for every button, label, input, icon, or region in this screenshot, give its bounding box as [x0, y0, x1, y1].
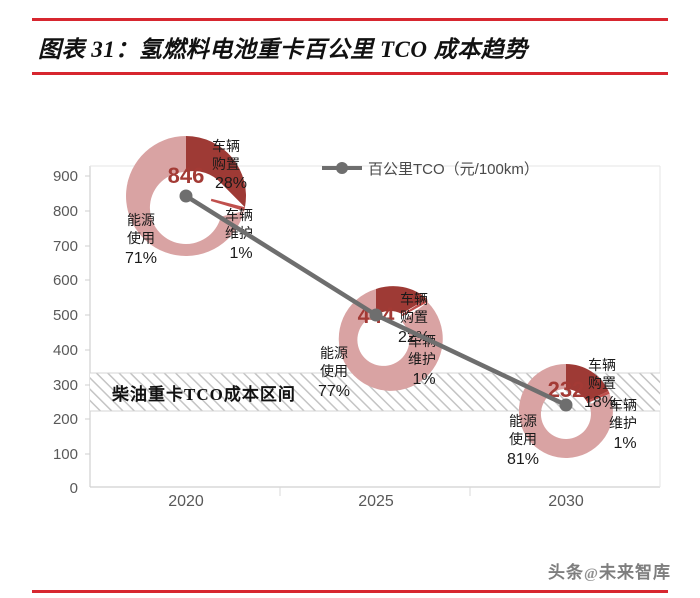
y-label-300: 300 — [53, 377, 78, 394]
donut-2025-energy-l2: 使用 — [320, 363, 348, 380]
title-rule-bottom — [32, 72, 668, 75]
donut-2025-purchase-l2: 购置 — [400, 310, 428, 326]
donut-2030-energy-pct: 81% — [507, 451, 539, 468]
tco-point-2020[interactable] — [180, 190, 193, 203]
watermark-right-text: 未来智库 — [599, 563, 671, 582]
chart-container: 900 800 700 600 500 400 300 200 100 0 20… — [0, 108, 700, 518]
donut-2030-energy-l1: 能源 — [509, 414, 537, 430]
donut-2020-energy-l2: 使用 — [127, 230, 155, 247]
donut-2030-maint-l2: 维护 — [609, 416, 637, 432]
donut-2025-maint-pct: 1% — [412, 371, 435, 388]
donut-2020-purchase-l1: 车辆 — [212, 138, 240, 155]
y-label-0: 0 — [70, 480, 78, 497]
watermark: 头条@未来智库 — [548, 558, 688, 584]
legend-marker-icon — [336, 162, 348, 174]
watermark-left-text: 头条 — [548, 563, 584, 582]
chart-legend[interactable]: 百公里TCO（元/100km） — [322, 161, 539, 178]
donut-2030-maint-pct: 1% — [613, 435, 636, 452]
donut-2030-purchase-l2: 购置 — [588, 376, 616, 392]
footer-rule — [32, 590, 668, 593]
donut-2025-maint-l2: 维护 — [408, 352, 436, 368]
donut-2025-energy-pct: 77% — [318, 383, 350, 400]
donut-2025: 车辆 购置 22% 车辆 维护 1% 能源 使用 77% 444 — [318, 286, 443, 400]
donut-2030-purchase-l1: 车辆 — [588, 357, 616, 374]
y-label-200: 200 — [53, 411, 78, 428]
y-label-800: 800 — [53, 203, 78, 220]
x-label-2030: 2030 — [548, 493, 584, 510]
x-label-2020: 2020 — [168, 493, 204, 510]
y-label-100: 100 — [53, 446, 78, 463]
donut-2020-energy-pct: 71% — [125, 250, 157, 267]
y-axis-labels: 900 800 700 600 500 400 300 200 100 0 — [53, 168, 78, 497]
donut-2025-purchase-l1: 车辆 — [400, 291, 428, 308]
y-label-400: 400 — [53, 342, 78, 359]
donut-2030-maint-l1: 车辆 — [609, 397, 637, 414]
at-icon: @ — [584, 566, 599, 583]
y-label-500: 500 — [53, 307, 78, 324]
tco-point-2030[interactable] — [560, 399, 573, 412]
diesel-band-label: 柴油重卡TCO成本区间 — [111, 384, 296, 404]
y-label-700: 700 — [53, 238, 78, 255]
tco-point-2025[interactable] — [370, 309, 383, 322]
x-label-2025: 2025 — [358, 493, 394, 510]
donut-2020-purchase-pct: 28% — [215, 175, 247, 192]
donut-2020-center-value: 846 — [168, 163, 205, 188]
y-axis-ticks — [85, 176, 90, 454]
tco-trend-chart: 900 800 700 600 500 400 300 200 100 0 20… — [0, 108, 700, 518]
figure-title-block: 图表 31：氢燃料电池重卡百公里 TCO 成本趋势 — [32, 18, 668, 75]
y-label-900: 900 — [53, 168, 78, 185]
legend-label: 百公里TCO（元/100km） — [368, 161, 539, 178]
donut-2025-energy-l1: 能源 — [320, 346, 348, 362]
donut-2020-energy-l1: 能源 — [127, 213, 155, 229]
donut-2020-maint-pct: 1% — [229, 245, 252, 262]
donut-2030-energy-l2: 使用 — [509, 431, 537, 448]
y-label-600: 600 — [53, 272, 78, 289]
donut-2020-purchase-l2: 购置 — [212, 157, 240, 173]
x-axis-labels: 2020 2025 2030 — [168, 493, 584, 510]
page-title: 图表 31：氢燃料电池重卡百公里 TCO 成本趋势 — [32, 21, 668, 72]
